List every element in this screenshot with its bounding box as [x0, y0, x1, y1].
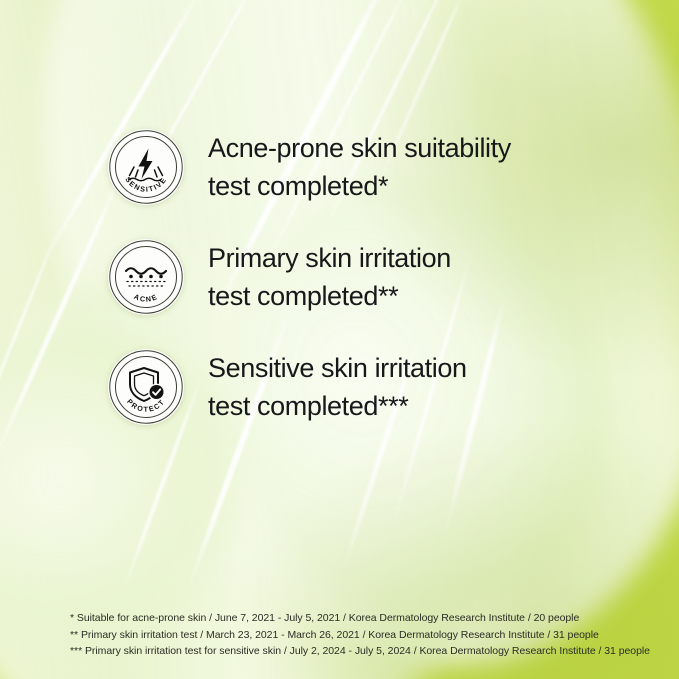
svg-text:SENSITIVE: SENSITIVE [123, 175, 168, 194]
acne-badge: ACNE [108, 239, 184, 315]
sensitive-badge: SENSITIVE [108, 129, 184, 205]
claim-heading: Primary skin irritation test completed** [208, 239, 451, 316]
claim-row: ACNE Primary skin irritation test comple… [108, 234, 628, 320]
footnote-block: * Suitable for acne-prone skin / June 7,… [70, 610, 650, 660]
svg-text:ACNE: ACNE [133, 292, 160, 304]
skin-texture-icon: ACNE [108, 239, 184, 315]
footnote-line: *** Primary skin irritation test for sen… [70, 643, 650, 660]
claims-list: SENSITIVE Acne-prone skin suitability te… [108, 124, 628, 454]
footnote-line: ** Primary skin irritation test / March … [70, 627, 650, 644]
claim-heading: Acne-prone skin suitability test complet… [208, 129, 511, 206]
claim-row: SENSITIVE Acne-prone skin suitability te… [108, 124, 628, 210]
product-claims-graphic: SENSITIVE Acne-prone skin suitability te… [0, 0, 679, 679]
footnote-line: * Suitable for acne-prone skin / June 7,… [70, 610, 650, 627]
claim-row: PROTECT Sensitive skin irritation test c… [108, 344, 628, 430]
protect-badge: PROTECT [108, 349, 184, 425]
lightning-bolt-icon: SENSITIVE [108, 129, 184, 205]
claim-heading: Sensitive skin irritation test completed… [208, 349, 467, 426]
shield-check-icon: PROTECT [108, 349, 184, 425]
